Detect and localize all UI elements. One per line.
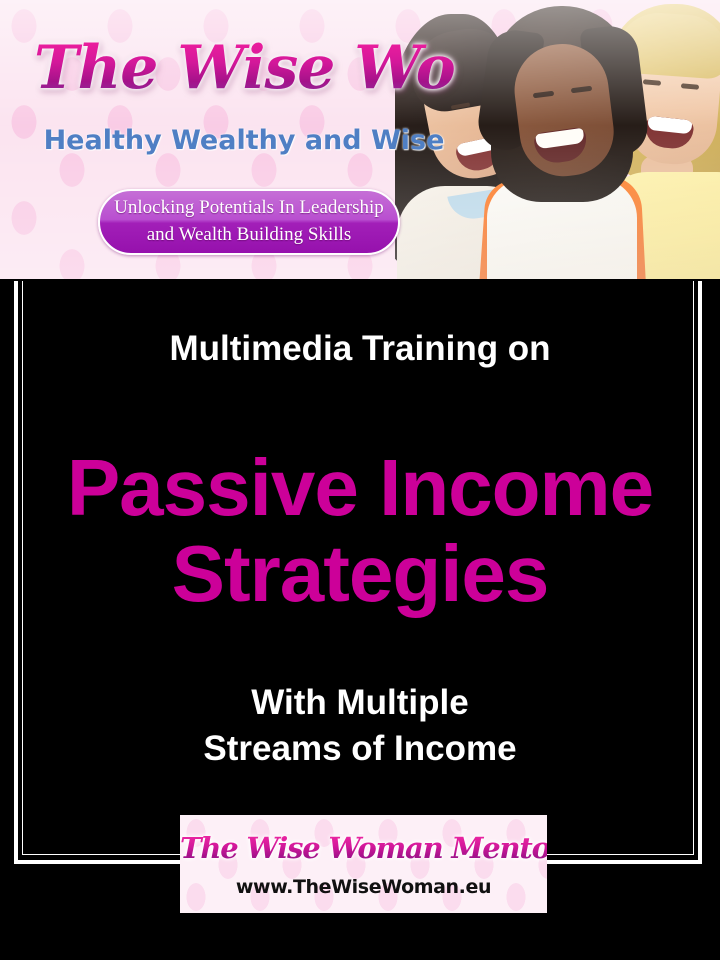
footer-logo-block: The Wise Woman Mentoring Series www.TheW… (180, 815, 547, 913)
brand-slogan-pill: Unlocking Potentials In Leadership and W… (98, 189, 400, 255)
slide-headline-line-2: Strategies (0, 531, 720, 617)
slide-page: The Wise Woman Healthy Wealthy and Wise … (0, 0, 720, 960)
brand-slogan-line-1: Unlocking Potentials In Leadership (114, 195, 384, 222)
slide-subline-line-2: Streams of Income (0, 726, 720, 772)
header-banner: The Wise Woman Healthy Wealthy and Wise … (0, 0, 720, 279)
footer-website-url: www.TheWiseWoman.eu (180, 876, 547, 898)
slide-kicker: Multimedia Training on (0, 329, 720, 369)
slide-headline-line-1: Passive Income (67, 443, 653, 532)
brand-tagline: Healthy Wealthy and Wise (34, 127, 454, 154)
slide-headline: Passive Income Strategies (0, 445, 720, 618)
slide-subline: With Multiple Streams of Income (0, 680, 720, 771)
brand-wordmark: The Wise Woman (34, 38, 454, 98)
brand-slogan-line-2: and Wealth Building Skills (147, 222, 351, 249)
footer-wordmark: The Wise Woman Mentoring Series (180, 834, 547, 863)
slide-subline-line-1: With Multiple (0, 680, 720, 726)
